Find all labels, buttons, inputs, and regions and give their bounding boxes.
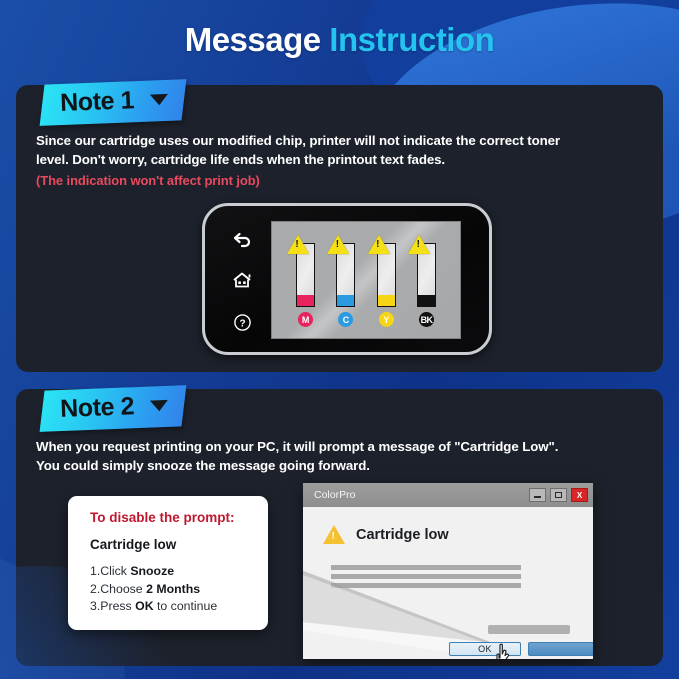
title-part-message: Message (185, 21, 321, 58)
close-icon[interactable]: X (571, 488, 588, 502)
toner-bar (336, 243, 355, 307)
hand-pointer-cursor (493, 643, 515, 659)
toner-fill (337, 295, 354, 306)
note-1-badge[interactable]: Note 1 (40, 79, 187, 126)
note-1-panel: Since our cartridge uses our modified ch… (16, 85, 663, 372)
step-1-bold: Snooze (130, 564, 174, 578)
warning-triangle-icon (368, 235, 390, 254)
tip-card-title: To disable the prompt: (90, 510, 252, 525)
note-2-line-1: When you request printing on your PC, it… (36, 437, 648, 456)
tip-step-2: 2.Choose 2 Months (90, 581, 252, 599)
note-2-line-2: You could simply snooze the message goin… (36, 456, 648, 475)
note-1-badge-label: Note 1 (60, 86, 135, 118)
secondary-button[interactable] (528, 642, 593, 656)
printer-screen: M C (271, 221, 461, 339)
note-2-badge[interactable]: Note 2 (40, 385, 187, 432)
home-icon[interactable] (232, 271, 252, 289)
dialog-titlebar[interactable]: ColorPro X (303, 483, 593, 507)
step-2-bold: 2 Months (146, 582, 200, 596)
toner-bar (377, 243, 396, 307)
toner-chip-label: M (298, 312, 313, 327)
device-icon-column: ? (219, 218, 265, 344)
toner-bar (417, 243, 436, 307)
placeholder-field-bar (488, 625, 570, 634)
toner-gauge-yellow: Y (371, 243, 401, 327)
note-1-body: Since our cartridge uses our modified ch… (36, 131, 648, 190)
window-controls: X (529, 488, 588, 502)
toner-fill (378, 295, 395, 306)
chevron-down-icon (150, 400, 168, 412)
step-2-number: 2. (90, 582, 100, 596)
placeholder-text-bar (331, 583, 521, 588)
toner-gauge-cyan: C (331, 243, 361, 327)
poster-root: Message Instruction Since our cartridge … (0, 0, 679, 679)
toner-gauge-black: BK (412, 243, 442, 327)
tip-step-1: 1.Click Snooze (90, 563, 252, 581)
warning-triangle-icon (323, 525, 345, 544)
help-icon[interactable]: ? (233, 313, 252, 332)
dialog-window-title: ColorPro (314, 489, 355, 501)
chevron-down-icon (150, 94, 168, 106)
toner-chip-label: Y (379, 312, 394, 327)
disable-prompt-card: To disable the prompt: Cartridge low 1.C… (68, 496, 268, 630)
note-2-body: When you request printing on your PC, it… (36, 437, 648, 475)
dialog-message-header: Cartridge low (323, 525, 449, 544)
step-3-bold: OK (135, 599, 153, 613)
note-1-line-2: level. Don't worry, cartridge life ends … (36, 150, 648, 169)
warning-triangle-icon (327, 235, 349, 254)
note-1-line-1: Since our cartridge uses our modified ch… (36, 131, 648, 150)
back-arrow-icon[interactable] (232, 230, 252, 248)
maximize-icon[interactable] (550, 488, 567, 502)
note-2-badge-label: Note 2 (60, 392, 135, 424)
toner-level-row: M C (272, 222, 460, 338)
placeholder-text-bar (331, 565, 521, 570)
toner-chip-label: BK (419, 312, 434, 327)
toner-chip-label: C (338, 312, 353, 327)
step-1-pre: Click (100, 564, 130, 578)
note-2-panel: When you request printing on your PC, it… (16, 389, 663, 666)
step-3-pre: Press (100, 599, 135, 613)
placeholder-text-bar (331, 574, 521, 579)
note-1-red-line: (The indication won't affect print job) (36, 171, 648, 190)
printer-control-panel: ? M (202, 203, 492, 355)
step-3-number: 3. (90, 599, 100, 613)
dialog-body: Cartridge low OK (303, 507, 593, 659)
cartridge-low-dialog: ColorPro X Cartridge low (303, 483, 593, 659)
warning-triangle-icon (408, 235, 430, 254)
toner-bar (296, 243, 315, 307)
header: Message Instruction (0, 0, 679, 80)
step-1-number: 1. (90, 564, 100, 578)
warning-triangle-icon (287, 235, 309, 254)
svg-text:?: ? (239, 319, 245, 330)
toner-gauge-magenta: M (290, 243, 320, 327)
step-2-pre: Choose (100, 582, 146, 596)
title-part-instruction: Instruction (329, 21, 494, 58)
toner-fill (418, 295, 435, 306)
tip-step-3: 3.Press OK to continue (90, 598, 252, 616)
toner-fill (297, 295, 314, 306)
step-3-post: to continue (154, 599, 218, 613)
tip-card-subtitle: Cartridge low (90, 537, 252, 552)
dialog-message-title: Cartridge low (356, 527, 449, 543)
minimize-icon[interactable] (529, 488, 546, 502)
page-title: Message Instruction (185, 21, 495, 59)
